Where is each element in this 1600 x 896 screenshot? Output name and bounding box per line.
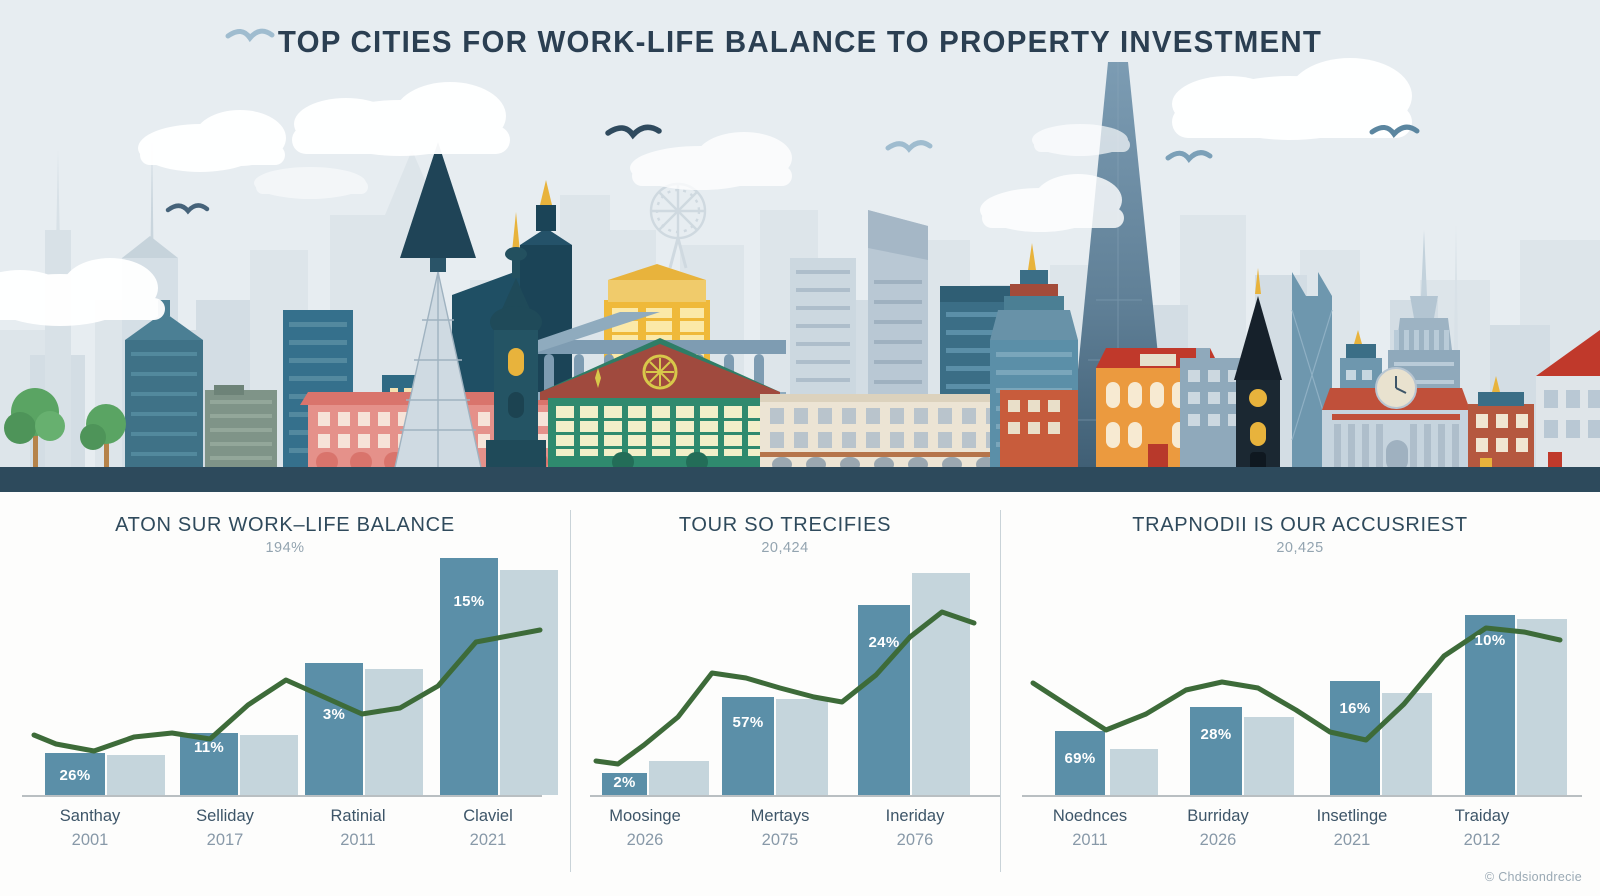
copyright-credit: © Chdsiondrecie — [1485, 870, 1582, 884]
charts-section: ATON SUR WORK–LIFE BALANCE 194% 26% 11% … — [0, 492, 1600, 896]
plot-area-1: 26% 11% 3% 15% Santhay 2001 Selliday 201… — [0, 492, 570, 896]
bar-secondary[interactable] — [1244, 717, 1294, 795]
panel-divider-1 — [570, 510, 571, 872]
category-year: 2012 — [1412, 829, 1552, 852]
bar-secondary[interactable] — [240, 735, 298, 795]
category-name: Noednces — [1020, 804, 1160, 829]
category-label: Mertays 2075 — [715, 804, 845, 852]
bar-secondary[interactable] — [1382, 693, 1432, 795]
city-skyline-illustration: TOP CITIES FOR WORK-LIFE BALANCE TO PROP… — [0, 0, 1600, 492]
category-name: Traiday — [1412, 804, 1552, 829]
category-year: 2021 — [1282, 829, 1422, 852]
category-label: Ineriday 2076 — [850, 804, 980, 852]
axis-baseline-2 — [590, 795, 1000, 797]
infographic-root: TOP CITIES FOR WORK-LIFE BALANCE TO PROP… — [0, 0, 1600, 896]
skyline-svg — [0, 0, 1600, 492]
page-title: TOP CITIES FOR WORK-LIFE BALANCE TO PROP… — [40, 24, 1560, 60]
category-year: 2011 — [288, 829, 428, 852]
category-year: 2017 — [155, 829, 295, 852]
category-label: Santhay 2001 — [20, 804, 160, 852]
category-name: Insetlinge — [1282, 804, 1422, 829]
bar-primary[interactable] — [1330, 681, 1380, 795]
category-label: Ratinial 2011 — [288, 804, 428, 852]
category-label: Insetlinge 2021 — [1282, 804, 1422, 852]
chart-panel-1: ATON SUR WORK–LIFE BALANCE 194% 26% 11% … — [0, 492, 570, 896]
bar-value-label: 15% — [440, 593, 498, 610]
bar-secondary[interactable] — [776, 699, 828, 795]
bar-secondary[interactable] — [1517, 619, 1567, 795]
bar-value-label: 69% — [1055, 750, 1105, 767]
bar-secondary[interactable] — [365, 669, 423, 795]
category-name: Selliday — [155, 804, 295, 829]
plot-area-3: 69% 28% 16% 10% Noednces 2011 Burriday 2… — [1000, 492, 1600, 896]
bar-value-label: 16% — [1330, 700, 1380, 717]
bar-primary[interactable] — [722, 697, 774, 795]
category-label: Moosinge 2026 — [580, 804, 710, 852]
category-name: Mertays — [715, 804, 845, 829]
category-name: Moosinge — [580, 804, 710, 829]
category-label: Traiday 2012 — [1412, 804, 1552, 852]
category-name: Ratinial — [288, 804, 428, 829]
category-name: Ineriday — [850, 804, 980, 829]
panel-divider-2 — [1000, 510, 1001, 872]
bar-value-label: 26% — [45, 767, 105, 784]
category-year: 2026 — [1148, 829, 1288, 852]
bar-value-label: 24% — [858, 634, 910, 651]
ground-band — [0, 467, 1600, 492]
category-year: 2021 — [418, 829, 558, 852]
chart-panel-3: TRAPNODII IS OUR ACCUSRIEST 20,425 69% 2… — [1000, 492, 1600, 896]
bar-secondary[interactable] — [107, 755, 165, 795]
bar-secondary[interactable] — [912, 573, 970, 795]
bar-value-label: 28% — [1190, 726, 1242, 743]
beige-terrace-building — [760, 394, 1010, 472]
bar-value-label: 57% — [722, 714, 774, 731]
bar-secondary[interactable] — [500, 570, 558, 795]
bar-secondary[interactable] — [1110, 749, 1158, 795]
category-label: Noednces 2011 — [1020, 804, 1160, 852]
axis-baseline-3 — [1022, 795, 1582, 797]
bar-primary[interactable] — [305, 663, 363, 795]
axis-baseline-1 — [22, 795, 542, 797]
bar-value-label: 2% — [602, 774, 647, 791]
chart-panel-2: TOUR SO TRECIFIES 20,424 2% 57% 24% Moos… — [570, 492, 1000, 896]
category-year: 2026 — [580, 829, 710, 852]
bar-primary[interactable] — [1190, 707, 1242, 795]
category-label: Selliday 2017 — [155, 804, 295, 852]
category-year: 2011 — [1020, 829, 1160, 852]
category-label: Burriday 2026 — [1148, 804, 1288, 852]
bar-value-label: 10% — [1465, 632, 1515, 649]
bar-secondary[interactable] — [649, 761, 709, 795]
category-name: Burriday — [1148, 804, 1288, 829]
bar-value-label: 3% — [305, 706, 363, 723]
category-label: Claviel 2021 — [418, 804, 558, 852]
category-year: 2075 — [715, 829, 845, 852]
category-name: Claviel — [418, 804, 558, 829]
plot-area-2: 2% 57% 24% Moosinge 2026 Mertays 2075 In… — [570, 492, 1000, 896]
category-name: Santhay — [20, 804, 160, 829]
category-year: 2076 — [850, 829, 980, 852]
category-year: 2001 — [20, 829, 160, 852]
bar-value-label: 11% — [180, 739, 238, 756]
